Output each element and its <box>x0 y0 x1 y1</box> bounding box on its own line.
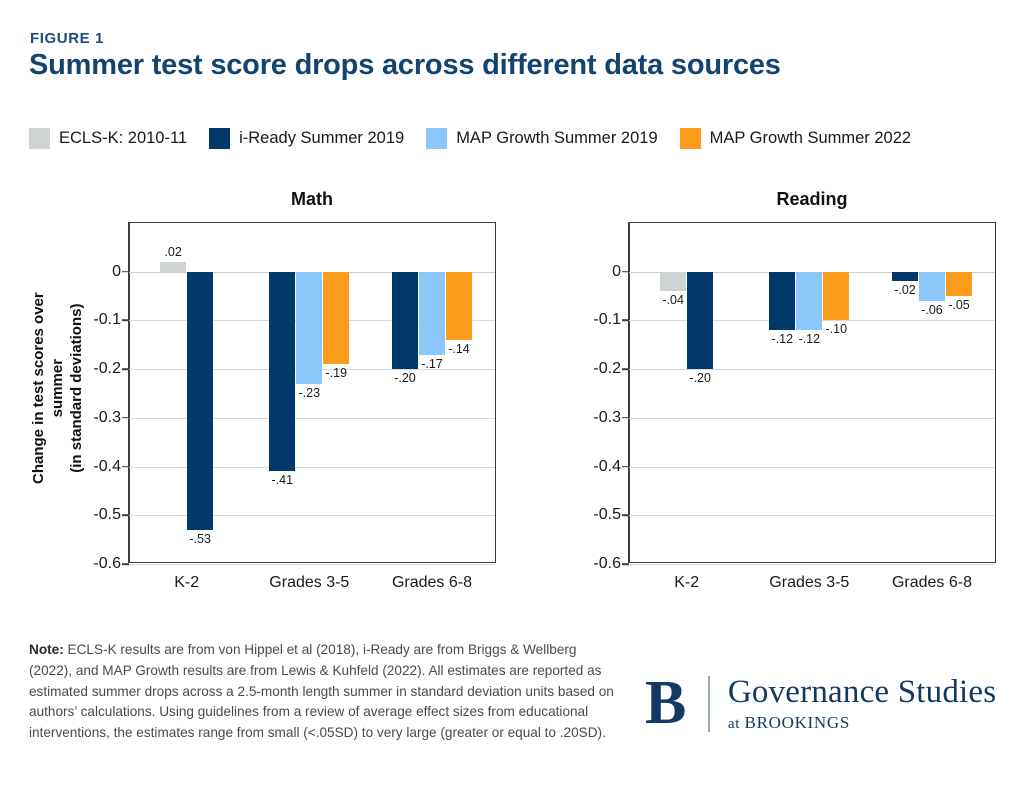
y-tick-mark-3 <box>122 417 129 419</box>
y-tick-label-4: -0.4 <box>593 458 621 476</box>
bar-value-label: -.17 <box>421 357 443 371</box>
figure-note: Note: ECLS-K results are from von Hippel… <box>29 640 619 744</box>
legend-item-3: MAP Growth Summer 2022 <box>680 128 911 149</box>
y-tick-label-1: -0.1 <box>593 311 621 329</box>
gridline--0.6 <box>629 564 995 565</box>
chart-reading: Reading 0-0.1-0.2-0.3-0.4-0.5-0.6-.04-.2… <box>628 222 996 563</box>
y-tick-mark-5 <box>122 514 129 516</box>
x-axis-label-2: Grades 6-8 <box>892 574 972 592</box>
bar-grades-3-5-1 <box>269 272 295 472</box>
y-tick-label-3: -0.3 <box>93 409 121 427</box>
x-axis-label-0: K-2 <box>674 574 699 592</box>
chart-title-reading: Reading <box>628 189 996 210</box>
legend-item-0: ECLS-K: 2010-11 <box>29 128 187 149</box>
x-axis-label-1: Grades 3-5 <box>269 574 349 592</box>
y-tick-mark-3 <box>622 417 629 419</box>
y-axis-line <box>128 222 130 563</box>
bar-value-label: -.41 <box>272 473 294 487</box>
y-tick-mark-0 <box>122 271 129 273</box>
y-tick-label-2: -0.2 <box>593 360 621 378</box>
bar-value-label: -.53 <box>189 532 211 546</box>
y-tick-mark-0 <box>622 271 629 273</box>
legend-swatch-ecls-k <box>29 128 50 149</box>
gridline--0.4 <box>129 467 495 468</box>
logo-org-name: at BROOKINGS <box>728 713 996 733</box>
bar-value-label: -.14 <box>448 342 470 356</box>
y-tick-mark-5 <box>622 514 629 516</box>
bar-value-label: -.23 <box>299 386 321 400</box>
gridline--0.6 <box>129 564 495 565</box>
y-tick-mark-2 <box>622 368 629 370</box>
y-tick-mark-4 <box>622 466 629 468</box>
y-tick-mark-1 <box>622 320 629 322</box>
y-tick-mark-1 <box>122 320 129 322</box>
legend-label-1: i-Ready Summer 2019 <box>239 129 404 148</box>
legend-swatch-map-2022 <box>680 128 701 149</box>
bar-value-label: -.05 <box>948 298 970 312</box>
plot-area-math: 0-0.1-0.2-0.3-0.4-0.5-0.6.02-.53K-2-.41-… <box>128 222 496 563</box>
y-axis-line <box>628 222 630 563</box>
bar-value-label: -.12 <box>799 332 821 346</box>
y-axis-title-line: (in standard deviations) <box>67 268 86 508</box>
bar-grades-3-5-1 <box>769 272 795 330</box>
bar-value-label: -.20 <box>394 371 416 385</box>
y-tick-label-1: -0.1 <box>93 311 121 329</box>
bar-k-2-1 <box>687 272 713 369</box>
gridline--0.2 <box>629 369 995 370</box>
x-axis-label-1: Grades 3-5 <box>769 574 849 592</box>
bar-value-label: .02 <box>164 245 181 259</box>
bar-grades-6-8-2 <box>919 272 945 301</box>
bar-grades-3-5-3 <box>823 272 849 321</box>
bar-grades-6-8-1 <box>392 272 418 369</box>
chart-title-math: Math <box>128 189 496 210</box>
bar-value-label: -.10 <box>826 322 848 336</box>
y-tick-label-4: -0.4 <box>93 458 121 476</box>
legend-item-2: MAP Growth Summer 2019 <box>426 128 657 149</box>
y-tick-label-0: 0 <box>112 263 121 281</box>
bar-value-label: -.06 <box>921 303 943 317</box>
y-tick-label-6: -0.6 <box>593 555 621 573</box>
brookings-logo: B Governance Studies at BROOKINGS <box>645 675 996 733</box>
bar-k-2-0 <box>660 272 686 291</box>
bar-value-label: -.02 <box>894 283 916 297</box>
y-tick-label-0: 0 <box>612 263 621 281</box>
bar-grades-3-5-3 <box>323 272 349 365</box>
logo-brookings-word: BROOKINGS <box>745 713 850 732</box>
bar-grades-6-8-2 <box>419 272 445 355</box>
x-axis-label-2: Grades 6-8 <box>392 574 472 592</box>
bar-grades-6-8-1 <box>892 272 918 282</box>
y-tick-mark-2 <box>122 368 129 370</box>
bar-grades-6-8-3 <box>946 272 972 296</box>
bar-grades-3-5-2 <box>296 272 322 384</box>
page-title: Summer test score drops across different… <box>29 49 781 82</box>
y-tick-label-2: -0.2 <box>93 360 121 378</box>
note-body: ECLS-K results are from von Hippel et al… <box>29 642 614 740</box>
gridline--0.3 <box>629 418 995 419</box>
x-axis-label-0: K-2 <box>174 574 199 592</box>
bar-k-2-0 <box>160 262 186 272</box>
legend-swatch-map-2019 <box>426 128 447 149</box>
gridline--0.3 <box>129 418 495 419</box>
gridline--0.5 <box>129 515 495 516</box>
gridline--0.4 <box>629 467 995 468</box>
bar-value-label: -.20 <box>689 371 711 385</box>
plot-area-reading: 0-0.1-0.2-0.3-0.4-0.5-0.6-.04-.20K-2-.12… <box>628 222 996 563</box>
logo-program-name: Governance Studies <box>728 675 996 710</box>
bar-value-label: -.19 <box>326 366 348 380</box>
legend-label-3: MAP Growth Summer 2022 <box>710 129 911 148</box>
figure-label: FIGURE 1 <box>30 30 104 47</box>
legend-label-0: ECLS-K: 2010-11 <box>59 129 187 148</box>
y-axis-title-line: Change in test scores over summer <box>30 268 68 508</box>
bar-grades-6-8-3 <box>446 272 472 340</box>
legend-swatch-iready-2019 <box>209 128 230 149</box>
brookings-monogram-icon: B <box>645 677 686 730</box>
legend-label-2: MAP Growth Summer 2019 <box>456 129 657 148</box>
y-tick-label-6: -0.6 <box>93 555 121 573</box>
bar-k-2-1 <box>187 272 213 530</box>
y-tick-mark-4 <box>122 466 129 468</box>
y-tick-label-5: -0.5 <box>593 506 621 524</box>
y-tick-label-5: -0.5 <box>93 506 121 524</box>
chart-math: Math 0-0.1-0.2-0.3-0.4-0.5-0.6.02-.53K-2… <box>128 222 496 563</box>
bar-grades-3-5-2 <box>796 272 822 330</box>
legend-item-1: i-Ready Summer 2019 <box>209 128 404 149</box>
note-prefix: Note: <box>29 642 64 657</box>
logo-at-word: at <box>728 716 745 732</box>
y-tick-label-3: -0.3 <box>593 409 621 427</box>
bar-value-label: -.12 <box>772 332 794 346</box>
logo-text: Governance Studies at BROOKINGS <box>728 675 996 733</box>
gridline--0.5 <box>629 515 995 516</box>
y-tick-mark-6 <box>122 563 129 565</box>
y-tick-mark-6 <box>622 563 629 565</box>
chart-legend: ECLS-K: 2010-11i-Ready Summer 2019MAP Gr… <box>29 128 933 149</box>
y-axis-title: Change in test scores over summer(in sta… <box>30 268 86 508</box>
bar-value-label: -.04 <box>662 293 684 307</box>
figure-page: FIGURE 1 Summer test score drops across … <box>0 0 1024 811</box>
logo-divider <box>708 676 710 732</box>
